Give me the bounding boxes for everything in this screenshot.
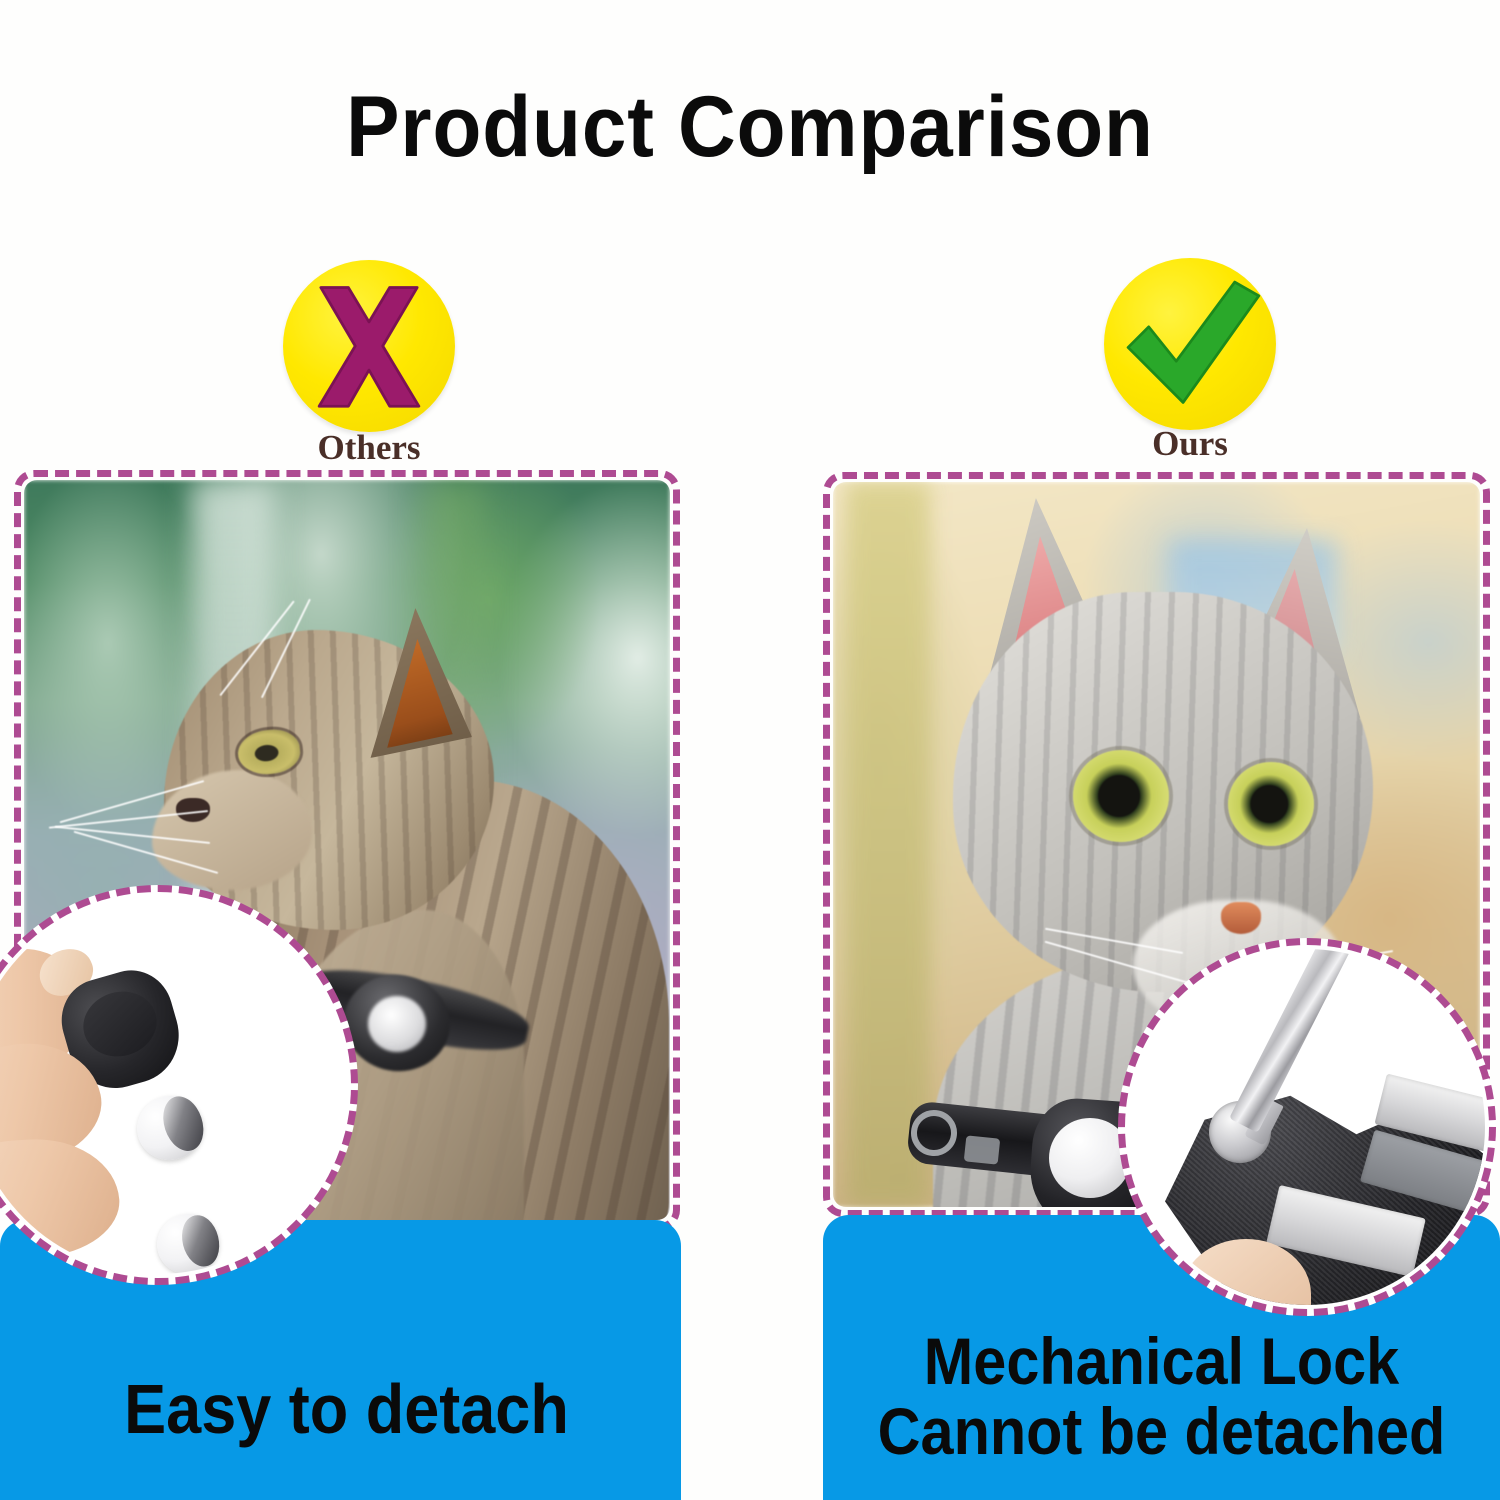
cat-eye-right [1228,762,1314,846]
infographic-canvas: Product Comparison Others [0,0,1500,1500]
cross-icon [283,260,455,432]
badge-ours [1104,258,1276,430]
airtag-shadow [156,1091,210,1156]
finger [0,1134,123,1265]
cat-nose [1221,902,1261,934]
banner-line: Easy to detach [40,1372,653,1446]
banner-line: Cannot be detached [857,1397,1466,1467]
airtag-shadow [177,1211,225,1271]
tracker-face [368,996,426,1052]
check-icon [1104,258,1276,430]
badge-label-others: Others [209,428,529,468]
inset-photo-ours [1129,949,1485,1305]
banner-text-others: Easy to detach [40,1372,653,1446]
badge-label-ours: Ours [1030,424,1350,464]
airtag-tracker [129,1087,212,1168]
airtag-tracker [151,1207,226,1274]
badge-others [283,260,455,432]
collar-reflective-stripe [964,1135,1001,1164]
background-pillar [846,482,930,1207]
page-title: Product Comparison [53,78,1448,177]
inset-photo-others [0,896,347,1274]
cat-eye-left [1073,750,1169,842]
banner-text-ours: Mechanical Lock Cannot be detached [857,1327,1466,1467]
inset-ours [1118,938,1496,1316]
banner-line: Mechanical Lock [857,1327,1466,1397]
